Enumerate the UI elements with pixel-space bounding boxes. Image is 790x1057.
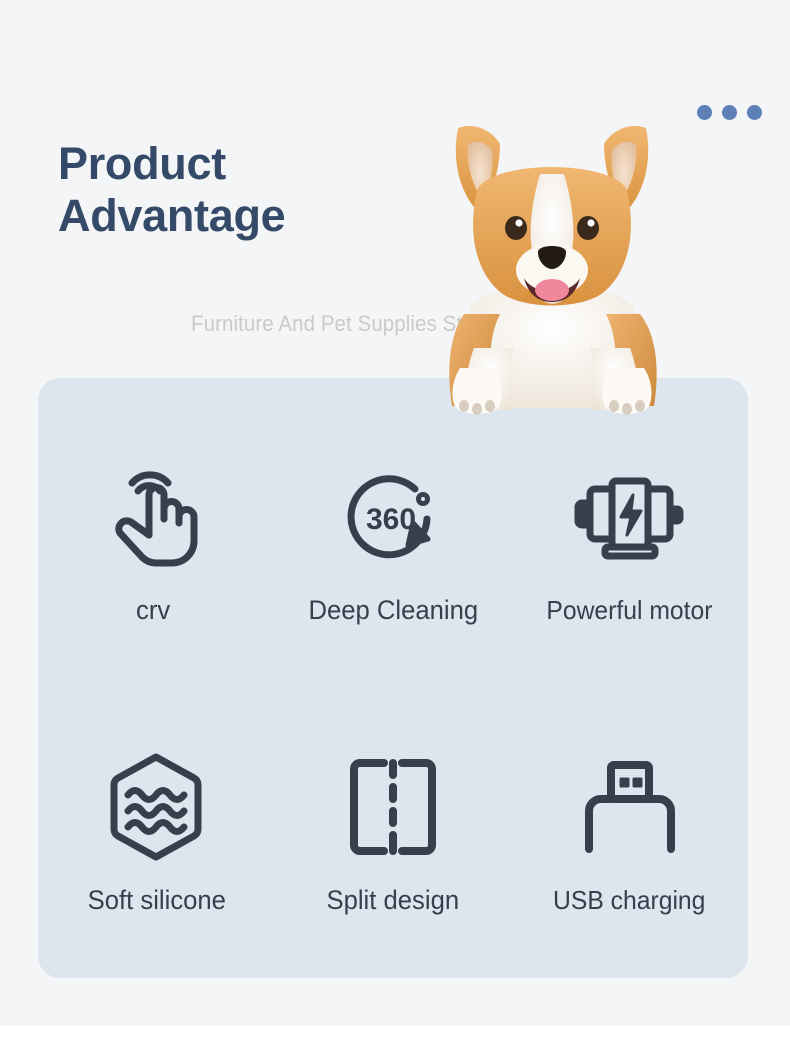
feature-label: Split design	[327, 885, 460, 916]
feature-label: Deep Cleaning	[308, 595, 478, 626]
dot-3	[747, 105, 762, 120]
page-title-line1: Product	[58, 138, 226, 189]
page-title: Product Advantage	[58, 138, 285, 242]
360-rotation-icon: 360	[341, 461, 445, 573]
page-title-line2: Advantage	[58, 190, 285, 242]
bottom-white-strip	[0, 1026, 790, 1057]
feature-item-soft-silicone[interactable]: Soft silicone	[38, 688, 275, 978]
usb-connector-icon	[581, 751, 679, 863]
dot-2	[722, 105, 737, 120]
motor-lightning-icon	[572, 461, 688, 573]
three-dots-icon	[697, 105, 762, 120]
feature-item-crv[interactable]: crv	[38, 398, 275, 688]
product-advantage-banner: Product Advantage Furniture And Pet Supp…	[0, 0, 790, 1057]
feature-label: USB charging	[553, 885, 705, 916]
feature-label: Powerful motor	[547, 595, 713, 626]
tap-hand-icon	[108, 461, 204, 573]
feature-item-split-design[interactable]: Split design	[275, 688, 512, 978]
features-grid: crv 360 Deep Cleaning	[38, 378, 748, 978]
feature-label: Soft silicone	[87, 885, 225, 916]
svg-text:360: 360	[366, 503, 416, 536]
split-brackets-icon	[346, 751, 440, 863]
dot-1	[697, 105, 712, 120]
feature-item-usb-charging[interactable]: USB charging	[511, 688, 748, 978]
feature-label: crv	[136, 595, 170, 626]
corgi-dog-photo	[430, 118, 674, 418]
hexagon-waves-icon	[106, 751, 206, 863]
feature-item-deep-cleaning[interactable]: 360 Deep Cleaning	[275, 398, 512, 688]
feature-item-powerful-motor[interactable]: Powerful motor	[511, 398, 748, 688]
